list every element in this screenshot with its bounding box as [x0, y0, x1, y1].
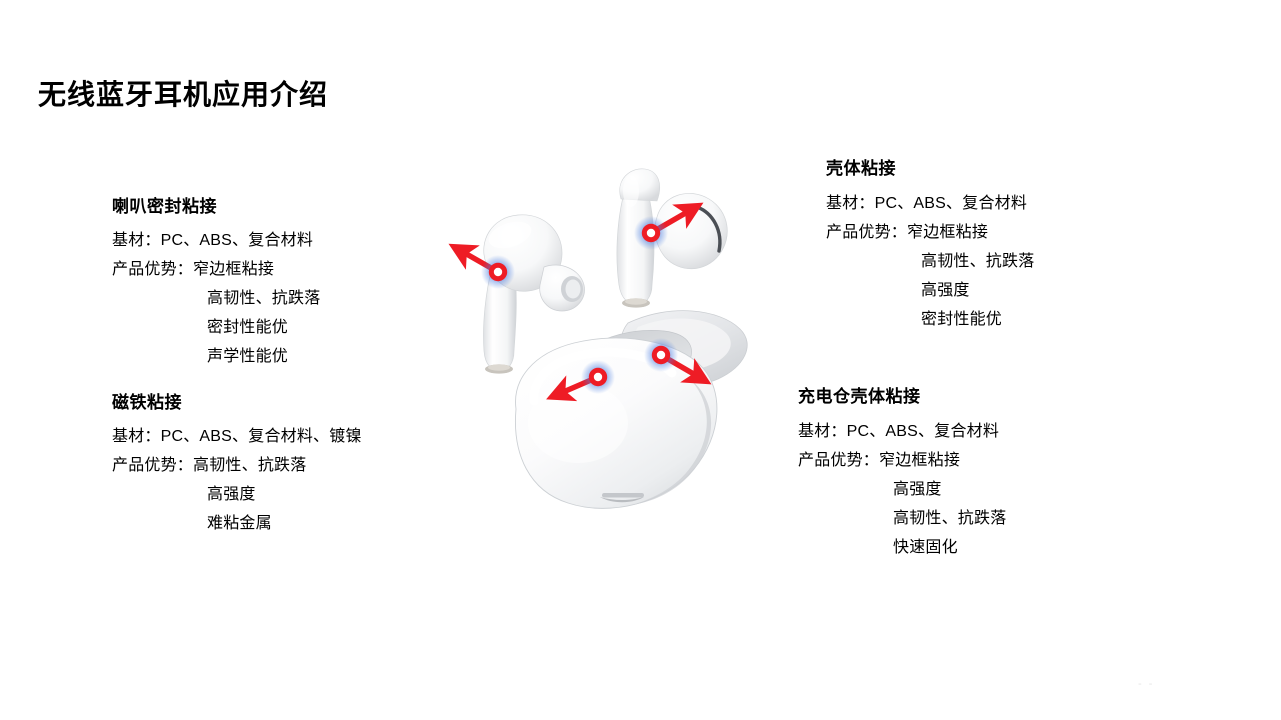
callout-speaker-advantage-0: 窄边框粘接 [193, 261, 274, 278]
callout-charging-case-advantage-row: 产品优势：窄边框粘接 [798, 446, 1006, 475]
callout-speaker-advantage-2: 密封性能优 [112, 313, 320, 342]
callout-speaker-advantage-3: 声学性能优 [112, 342, 320, 371]
callout-shell-heading: 壳体粘接 [826, 158, 1034, 179]
slide-canvas: 无线蓝牙耳机应用介绍 [0, 0, 1281, 720]
callout-magnet-base-value: PC、ABS、复合材料、镀镍 [161, 428, 362, 445]
right-earbud [617, 169, 727, 308]
callout-magnet-base-row: 基材：PC、ABS、复合材料、镀镍 [112, 422, 362, 451]
callout-magnet-advantage-row: 产品优势：高韧性、抗跌落 [112, 451, 362, 480]
callout-shell-bonding: 壳体粘接 基材：PC、ABS、复合材料 产品优势：窄边框粘接 高韧性、抗跌落 高… [826, 158, 1034, 334]
callout-magnet-advantage-0: 高韧性、抗跌落 [193, 457, 306, 474]
callout-shell-advantage-1: 高韧性、抗跌落 [826, 247, 1034, 276]
callout-magnet-advantage-1: 高强度 [112, 480, 362, 509]
callout-magnet-base-label: 基材： [112, 428, 161, 445]
product-photo [430, 165, 760, 525]
callout-speaker-advantage-1: 高韧性、抗跌落 [112, 284, 320, 313]
callout-charging-case-base-label: 基材： [798, 423, 847, 440]
callout-charging-case-advantage-2: 高韧性、抗跌落 [798, 504, 1006, 533]
callout-shell-advantage-label: 产品优势： [826, 224, 907, 241]
charging-case [515, 311, 747, 509]
page-title: 无线蓝牙耳机应用介绍 [38, 78, 328, 112]
callout-speaker-base-label: 基材： [112, 232, 161, 249]
callout-shell-advantage-3: 密封性能优 [826, 305, 1034, 334]
callout-shell-advantage-2: 高强度 [826, 276, 1034, 305]
footer-mark: - - [1138, 678, 1154, 690]
callout-magnet-bonding: 磁铁粘接 基材：PC、ABS、复合材料、镀镍 产品优势：高韧性、抗跌落 高强度 … [112, 392, 362, 538]
callout-speaker-bonding: 喇叭密封粘接 基材：PC、ABS、复合材料 产品优势：窄边框粘接 高韧性、抗跌落… [112, 196, 320, 371]
callout-magnet-advantage-2: 难粘金属 [112, 509, 362, 538]
callout-charging-case-base-value: PC、ABS、复合材料 [847, 423, 999, 440]
callout-shell-base-value: PC、ABS、复合材料 [875, 195, 1027, 212]
callout-shell-base-row: 基材：PC、ABS、复合材料 [826, 189, 1034, 218]
callout-speaker-advantage-row: 产品优势：窄边框粘接 [112, 255, 320, 284]
callout-shell-base-label: 基材： [826, 195, 875, 212]
callout-speaker-heading: 喇叭密封粘接 [112, 196, 320, 217]
callout-magnet-advantage-label: 产品优势： [112, 457, 193, 474]
callout-charging-case-bonding: 充电仓壳体粘接 基材：PC、ABS、复合材料 产品优势：窄边框粘接 高强度 高韧… [798, 386, 1006, 562]
callout-charging-case-base-row: 基材：PC、ABS、复合材料 [798, 417, 1006, 446]
callout-speaker-base-value: PC、ABS、复合材料 [161, 232, 313, 249]
callout-speaker-advantage-label: 产品优势： [112, 261, 193, 278]
callout-shell-advantage-row: 产品优势：窄边框粘接 [826, 218, 1034, 247]
callout-charging-case-advantage-0: 窄边框粘接 [879, 452, 960, 469]
callout-shell-advantage-0: 窄边框粘接 [907, 224, 988, 241]
callout-speaker-base-row: 基材：PC、ABS、复合材料 [112, 226, 320, 255]
callout-charging-case-advantage-1: 高强度 [798, 475, 1006, 504]
callout-charging-case-advantage-label: 产品优势： [798, 452, 879, 469]
callout-charging-case-advantage-3: 快速固化 [798, 533, 1006, 562]
callout-charging-case-heading: 充电仓壳体粘接 [798, 386, 1006, 407]
earbuds-illustration [430, 165, 760, 525]
callout-magnet-heading: 磁铁粘接 [112, 392, 362, 413]
